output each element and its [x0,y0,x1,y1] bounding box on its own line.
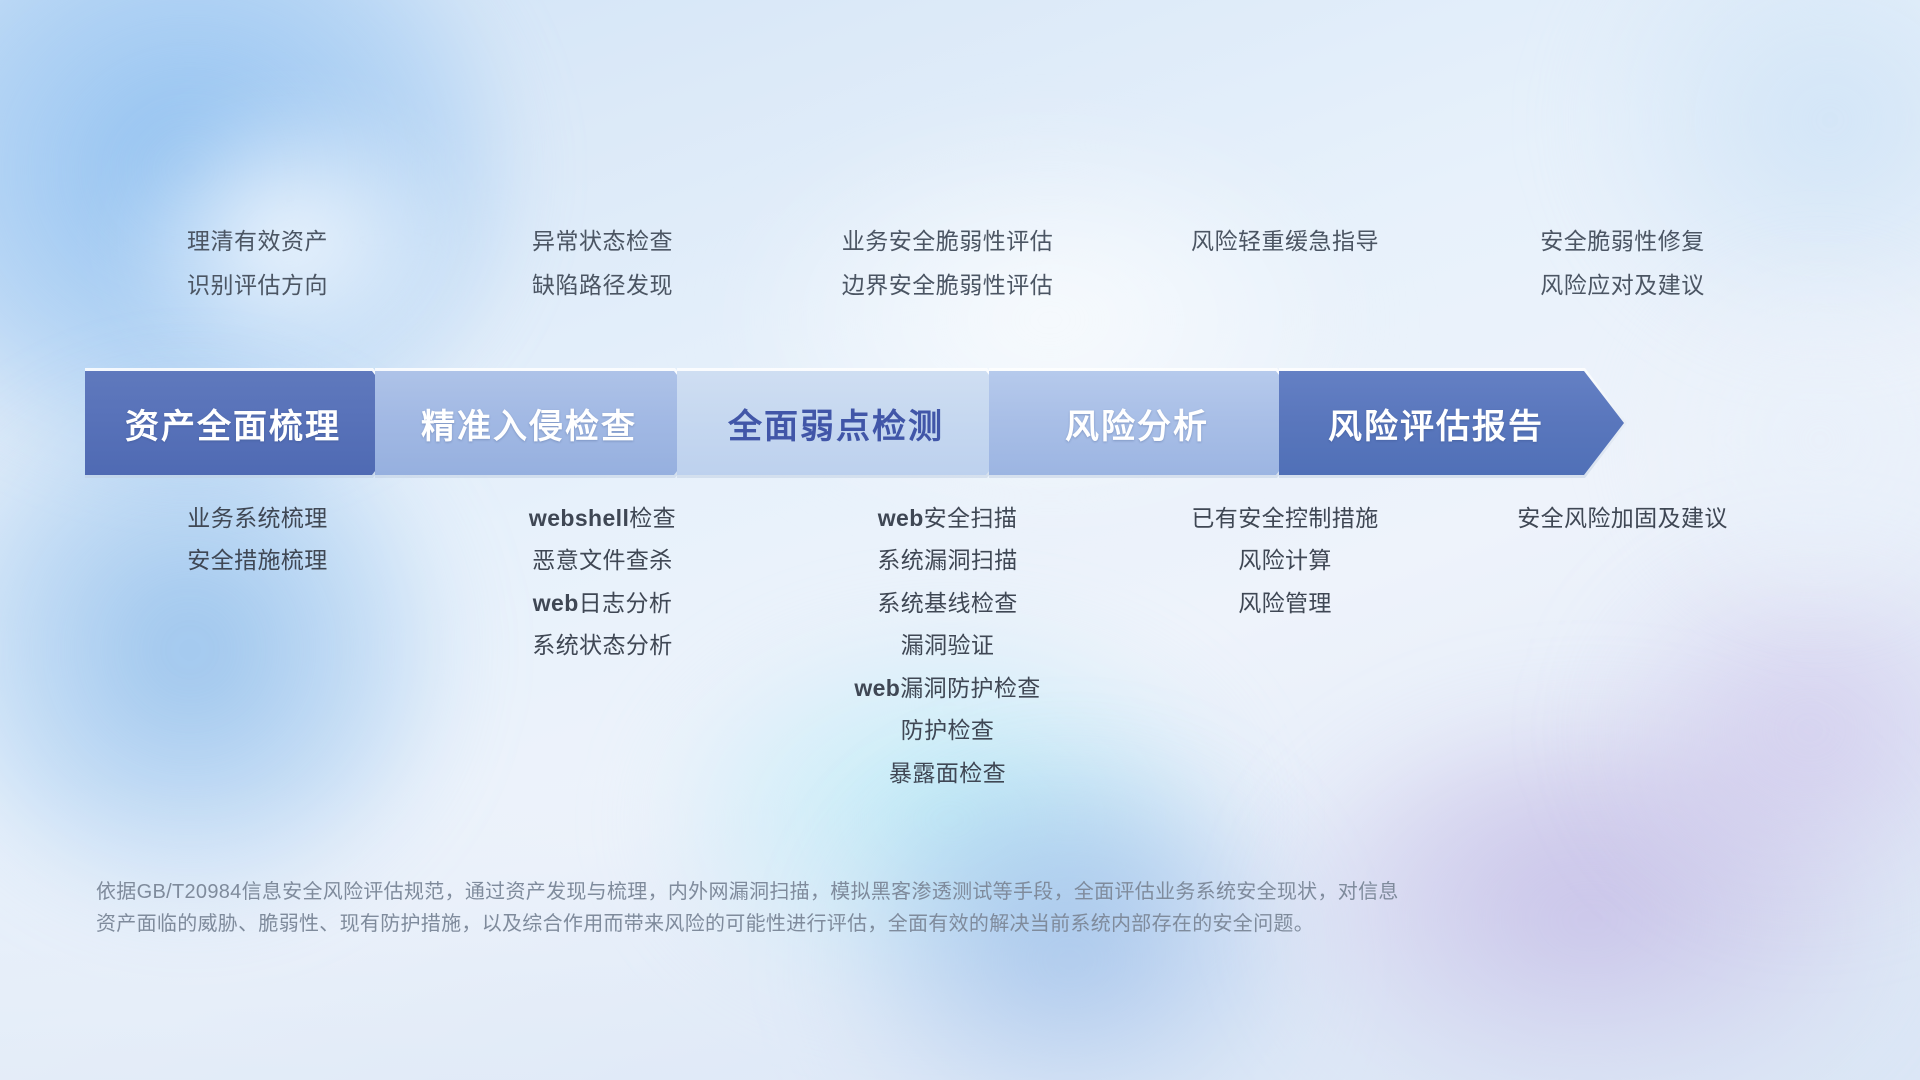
top-note: 业务安全脆弱性评估 [842,228,1054,254]
top-notes-stage-4: 风险轻重缓急指导 [1120,228,1450,299]
stage-arrow-band: 资产全面梳理 精准入侵检查 全面弱点检测 风险分析 风险评估报告 [85,368,1905,478]
stage-arrow-4[interactable]: 风险分析 [989,368,1319,478]
stage-arrow-label: 精准入侵检查 [375,399,717,448]
list-item: 安全风险加固及建议 [1517,505,1728,531]
top-note: 风险应对及建议 [1540,272,1705,298]
top-note: 风险轻重缓急指导 [1191,228,1379,254]
stage-arrow-5[interactable]: 风险评估报告 [1279,368,1627,478]
top-notes-stage-5: 安全脆弱性修复 风险应对及建议 [1450,228,1795,299]
list-item: 暴露面检查 [889,760,1006,786]
list-item: 系统状态分析 [532,632,672,658]
stage-arrow-label: 风险评估报告 [1279,399,1627,448]
detail-list-stage-3: web安全扫描 系统漏洞扫描 系统基线检查 漏洞验证 web漏洞防护检查 防护检… [775,505,1120,786]
top-note: 异常状态检查 [532,228,673,254]
list-item: 恶意文件查杀 [532,547,672,573]
list-item: 风险计算 [1238,547,1332,573]
top-notes-stage-1: 理清有效资产 识别评估方向 [85,228,430,299]
process-diagram: 理清有效资产 识别评估方向 异常状态检查 缺陷路径发现 业务安全脆弱性评估 边界… [0,0,1920,1080]
detail-list-stage-5: 安全风险加固及建议 [1450,505,1795,786]
top-note: 安全脆弱性修复 [1540,228,1705,254]
list-item: 系统漏洞扫描 [877,547,1017,573]
stage-arrow-2[interactable]: 精准入侵检查 [375,368,717,478]
list-item: web漏洞防护检查 [854,675,1040,701]
footer-description: 依据GB/T20984信息安全风险评估规范，通过资产发现与梳理，内外网漏洞扫描，… [96,876,1656,941]
top-note: 识别评估方向 [187,272,328,298]
footer-line-1: 依据GB/T20984信息安全风险评估规范，通过资产发现与梳理，内外网漏洞扫描，… [96,876,1656,908]
stage-arrow-label: 全面弱点检测 [677,399,1029,448]
list-item: 漏洞验证 [901,632,995,658]
list-item: 系统基线检查 [877,590,1017,616]
list-item: 风险管理 [1238,590,1332,616]
top-notes-stage-2: 异常状态检查 缺陷路径发现 [430,228,775,299]
detail-list-stage-2: webshell检查 恶意文件查杀 web日志分析 系统状态分析 [430,505,775,786]
list-item: web安全扫描 [878,505,1018,531]
footer-line-2: 资产面临的威胁、脆弱性、现有防护措施，以及综合作用而带来风险的可能性进行评估，全… [96,908,1656,940]
top-notes-stage-3: 业务安全脆弱性评估 边界安全脆弱性评估 [775,228,1120,299]
list-item: 业务系统梳理 [187,505,327,531]
top-notes-row: 理清有效资产 识别评估方向 异常状态检查 缺陷路径发现 业务安全脆弱性评估 边界… [85,228,1905,299]
list-item: webshell检查 [529,505,676,531]
stage-arrow-label: 风险分析 [989,399,1319,448]
stage-arrow-3[interactable]: 全面弱点检测 [677,368,1029,478]
stage-arrow-label: 资产全面梳理 [85,399,415,448]
stage-detail-lists: 业务系统梳理 安全措施梳理 webshell检查 恶意文件查杀 web日志分析 … [85,505,1905,786]
list-item: 防护检查 [901,717,995,743]
top-note: 边界安全脆弱性评估 [842,272,1054,298]
detail-list-stage-4: 已有安全控制措施 风险计算 风险管理 [1120,505,1450,786]
detail-list-stage-1: 业务系统梳理 安全措施梳理 [85,505,430,786]
stage-arrow-1[interactable]: 资产全面梳理 [85,368,415,478]
list-item: 已有安全控制措施 [1191,505,1378,531]
list-item: 安全措施梳理 [187,547,327,573]
top-note: 缺陷路径发现 [532,272,673,298]
list-item: web日志分析 [533,590,673,616]
top-note: 理清有效资产 [187,228,328,254]
